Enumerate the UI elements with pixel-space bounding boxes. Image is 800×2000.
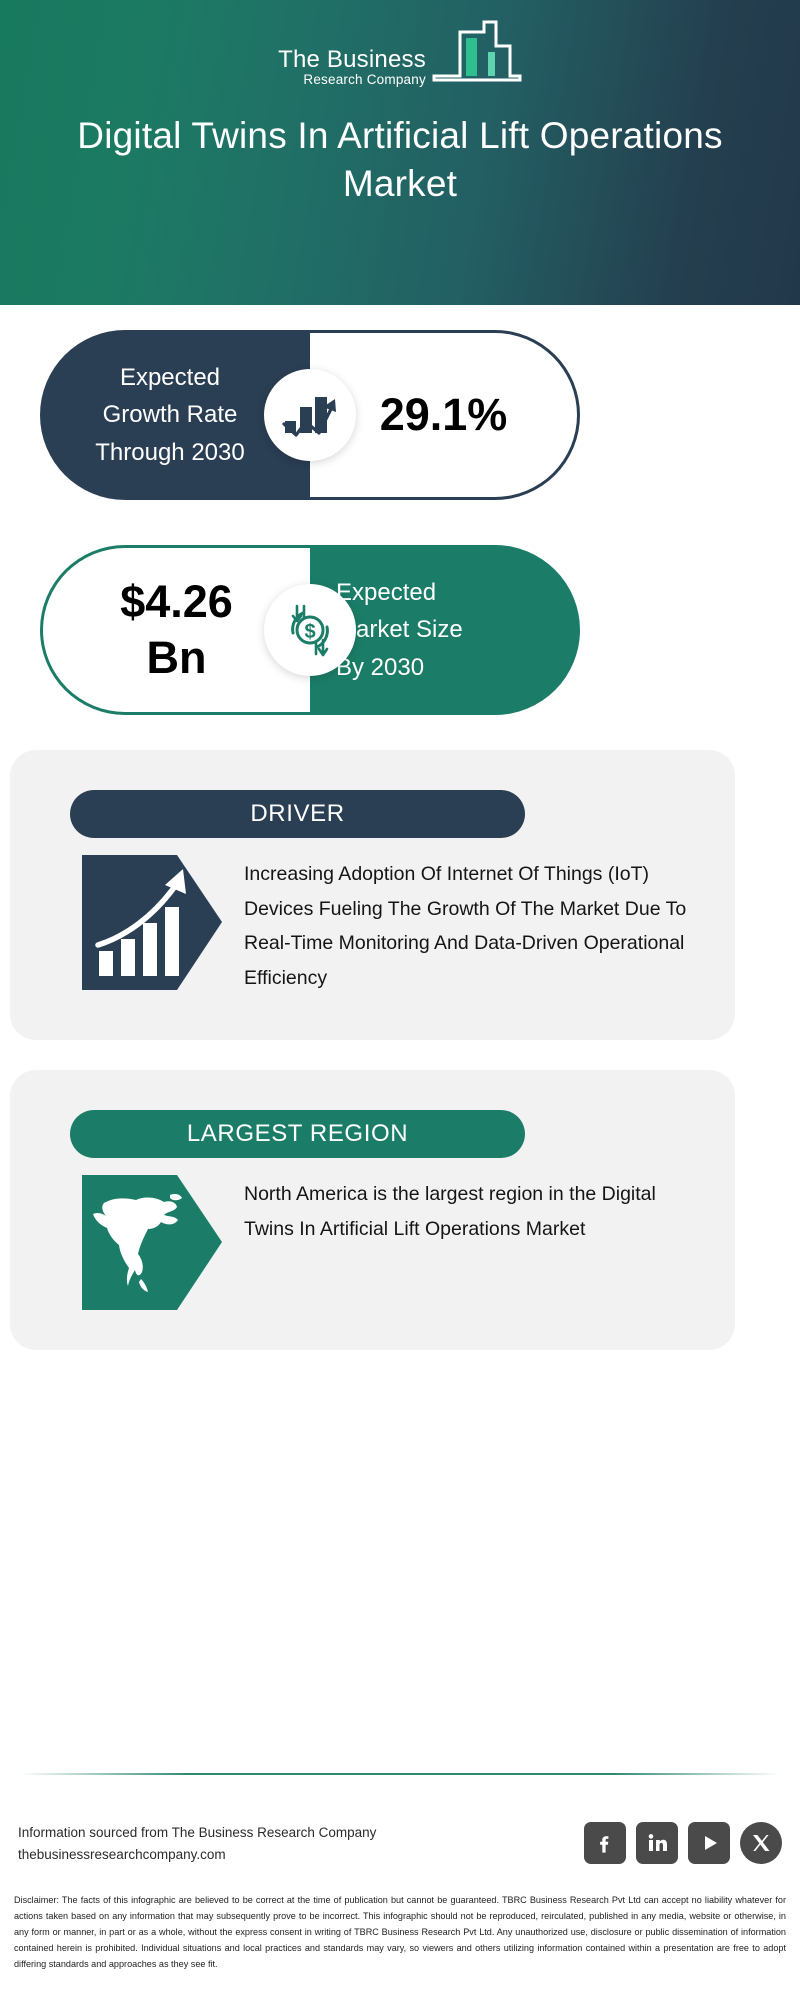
footer-source-line1: Information sourced from The Business Re… bbox=[18, 1822, 376, 1844]
footer-website-link[interactable]: thebusinessresearchcompany.com bbox=[18, 1844, 376, 1866]
footer-source: Information sourced from The Business Re… bbox=[18, 1822, 376, 1866]
footer-divider bbox=[20, 1773, 780, 1775]
linkedin-icon[interactable] bbox=[636, 1822, 678, 1864]
largest-region-text: North America is the largest region in t… bbox=[244, 1175, 699, 1246]
tbrc-bar-chart-logo-icon bbox=[426, 18, 522, 90]
growth-label-line3: Through 2030 bbox=[40, 434, 300, 471]
market-size-value-line2: Bn bbox=[147, 630, 207, 686]
page-title: Digital Twins In Artificial Lift Operati… bbox=[0, 112, 800, 208]
north-america-map-pentagon-icon bbox=[82, 1175, 222, 1310]
x-twitter-icon[interactable] bbox=[740, 1822, 782, 1864]
driver-text: Increasing Adoption Of Internet Of Thing… bbox=[244, 855, 699, 996]
growth-label-line2: Growth Rate bbox=[40, 396, 300, 433]
size-label-line3: By 2030 bbox=[336, 649, 580, 686]
growth-label-line1: Expected bbox=[40, 359, 300, 396]
header-banner: The Business Research Company Digital Tw… bbox=[0, 0, 800, 305]
svg-text:$: $ bbox=[304, 621, 315, 643]
logo-line1: The Business bbox=[278, 48, 426, 72]
growth-chart-arrow-pentagon-icon bbox=[82, 855, 222, 990]
logo-text: The Business Research Company bbox=[278, 48, 426, 91]
size-label-line1: Expected bbox=[336, 574, 580, 611]
disclaimer-text: Disclaimer: The facts of this infographi… bbox=[14, 1893, 786, 1973]
bar-chart-growth-arrow-icon bbox=[264, 369, 356, 461]
expected-growth-rate-card: Expected Growth Rate Through 2030 29.1% bbox=[40, 330, 580, 500]
market-size-value-line1: $4.26 bbox=[120, 574, 233, 630]
expected-market-size-card: $4.26 Bn Expected Market Size By 2030 $ bbox=[40, 545, 580, 715]
company-logo: The Business Research Company bbox=[0, 18, 800, 90]
driver-badge: DRIVER bbox=[70, 790, 525, 838]
logo-line2: Research Company bbox=[278, 73, 426, 87]
social-links bbox=[584, 1822, 782, 1864]
largest-region-section: LARGEST REGION North America is the larg… bbox=[10, 1070, 735, 1350]
driver-section: DRIVER Increasing Adoption Of Internet O… bbox=[10, 750, 735, 1040]
size-label-line2: Market Size bbox=[336, 611, 580, 648]
facebook-icon[interactable] bbox=[584, 1822, 626, 1864]
youtube-icon[interactable] bbox=[688, 1822, 730, 1864]
dollar-circular-arrows-icon: $ bbox=[264, 584, 356, 676]
largest-region-badge: LARGEST REGION bbox=[70, 1110, 525, 1158]
